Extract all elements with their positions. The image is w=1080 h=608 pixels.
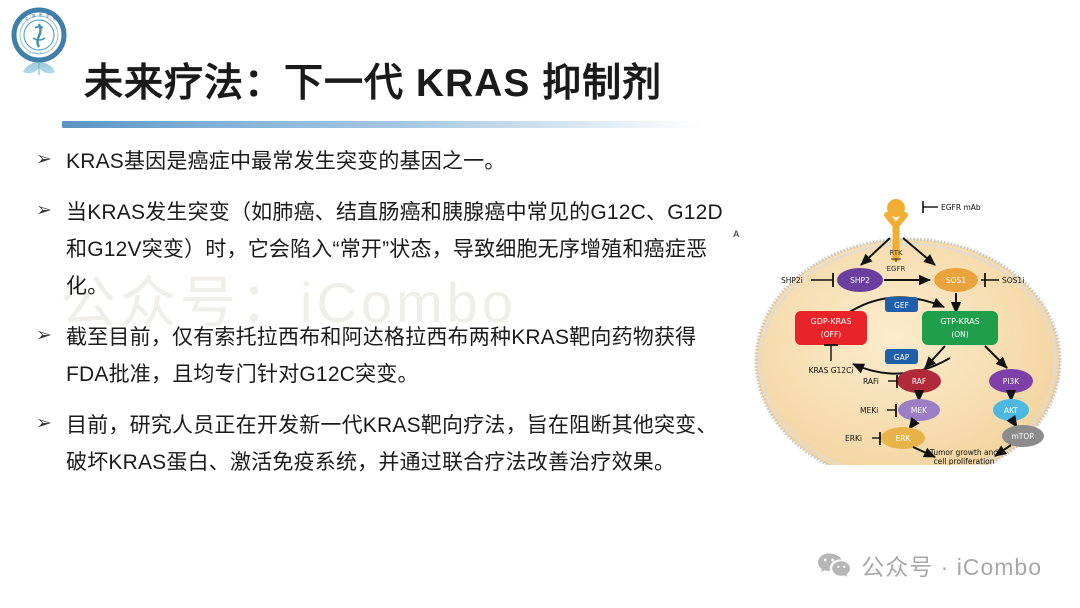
footer-wechat-text: 公众号 · iCombo <box>861 548 1042 582</box>
bullet-list: ➢ KRAS基因是癌症中最常发生突变的基因之一。 ➢ 当KRAS发生突变（如肺癌… <box>34 143 734 495</box>
label-gdp-kras: GDP-KRAS <box>811 317 852 326</box>
pathway-diagram-svg: EGFR mAb RTK EGFR SHP2 SHP2i SOS1 SOS1i <box>745 193 1067 465</box>
label-sos1: SOS1 <box>946 276 966 285</box>
label-gap: GAP <box>894 353 910 362</box>
bullet-text: 截至目前，仅有索托拉西布和阿达格拉西布两种KRAS靶向药物获得FDA批准，且均专… <box>66 319 734 393</box>
label-gef: GEF <box>894 301 909 310</box>
figure-panel-label: A <box>733 229 740 239</box>
label-rafi: RAFi <box>863 377 879 386</box>
list-item: ➢ KRAS基因是癌症中最常发生突变的基因之一。 <box>34 143 734 180</box>
bullet-text: KRAS基因是癌症中最常发生突变的基因之一。 <box>66 143 734 180</box>
bullet-arrow-icon: ➢ <box>34 319 66 353</box>
label-pi3k: PI3K <box>1003 377 1021 386</box>
wechat-icon <box>817 552 851 578</box>
label-meki: MEKi <box>860 406 878 415</box>
label-gtp-kras-state: (ON) <box>951 330 968 339</box>
title-underline-bar <box>62 121 702 128</box>
list-item: ➢ 目前，研究人员正在开发新一代KRAS靶向疗法，旨在阻断其他突变、破坏KRAS… <box>34 407 734 481</box>
slide-canvas: 公众号：iCombo 中国医 学院 Y I X U E <box>0 0 1080 608</box>
page-title: 未来疗法：下一代 KRAS 抑制剂 <box>84 52 662 108</box>
label-erk: ERK <box>896 434 912 443</box>
label-shp2: SHP2 <box>850 276 870 285</box>
label-outcome-line2: cell proliferation <box>933 457 994 465</box>
svg-text:Y I X U E: Y I X U E <box>29 51 42 55</box>
hospital-emblem-logo: 中国医 学院 Y I X U E <box>8 5 70 79</box>
label-sos1i: SOS1i <box>1002 276 1024 285</box>
bullet-text: 当KRAS发生突变（如肺癌、结直肠癌和胰腺癌中常见的G12C、G12D和G12V… <box>66 194 734 305</box>
label-gdp-kras-state: (OFF) <box>821 330 841 339</box>
label-akt: AKT <box>1004 406 1018 415</box>
label-egfr-mab: EGFR mAb <box>941 203 981 212</box>
label-raf: RAF <box>912 377 926 386</box>
list-item: ➢ 截至目前，仅有索托拉西布和阿达格拉西布两种KRAS靶向药物获得FDA批准，且… <box>34 319 734 393</box>
label-mtor: mTOR <box>1011 432 1034 441</box>
label-kras-g12ci: KRAS G12Ci <box>809 366 854 375</box>
bullet-arrow-icon: ➢ <box>34 407 66 441</box>
label-outcome-line1: Tumor growth and <box>929 448 998 457</box>
label-shp2i: SHP2i <box>781 276 803 285</box>
bullet-text: 目前，研究人员正在开发新一代KRAS靶向疗法，旨在阻断其他突变、破坏KRAS蛋白… <box>66 407 734 481</box>
footer-wechat-credit: 公众号 · iCombo <box>817 548 1042 582</box>
label-rtk: RTK <box>889 249 903 257</box>
label-gtp-kras: GTP-KRAS <box>940 317 979 326</box>
label-erki: ERKi <box>845 434 862 443</box>
label-mek: MEK <box>911 406 928 415</box>
kras-pathway-figure: A E <box>745 193 1067 465</box>
list-item: ➢ 当KRAS发生突变（如肺癌、结直肠癌和胰腺癌中常见的G12C、G12D和G1… <box>34 194 734 305</box>
label-egfr: EGFR <box>887 265 906 273</box>
bullet-arrow-icon: ➢ <box>34 143 66 177</box>
bullet-arrow-icon: ➢ <box>34 194 66 228</box>
